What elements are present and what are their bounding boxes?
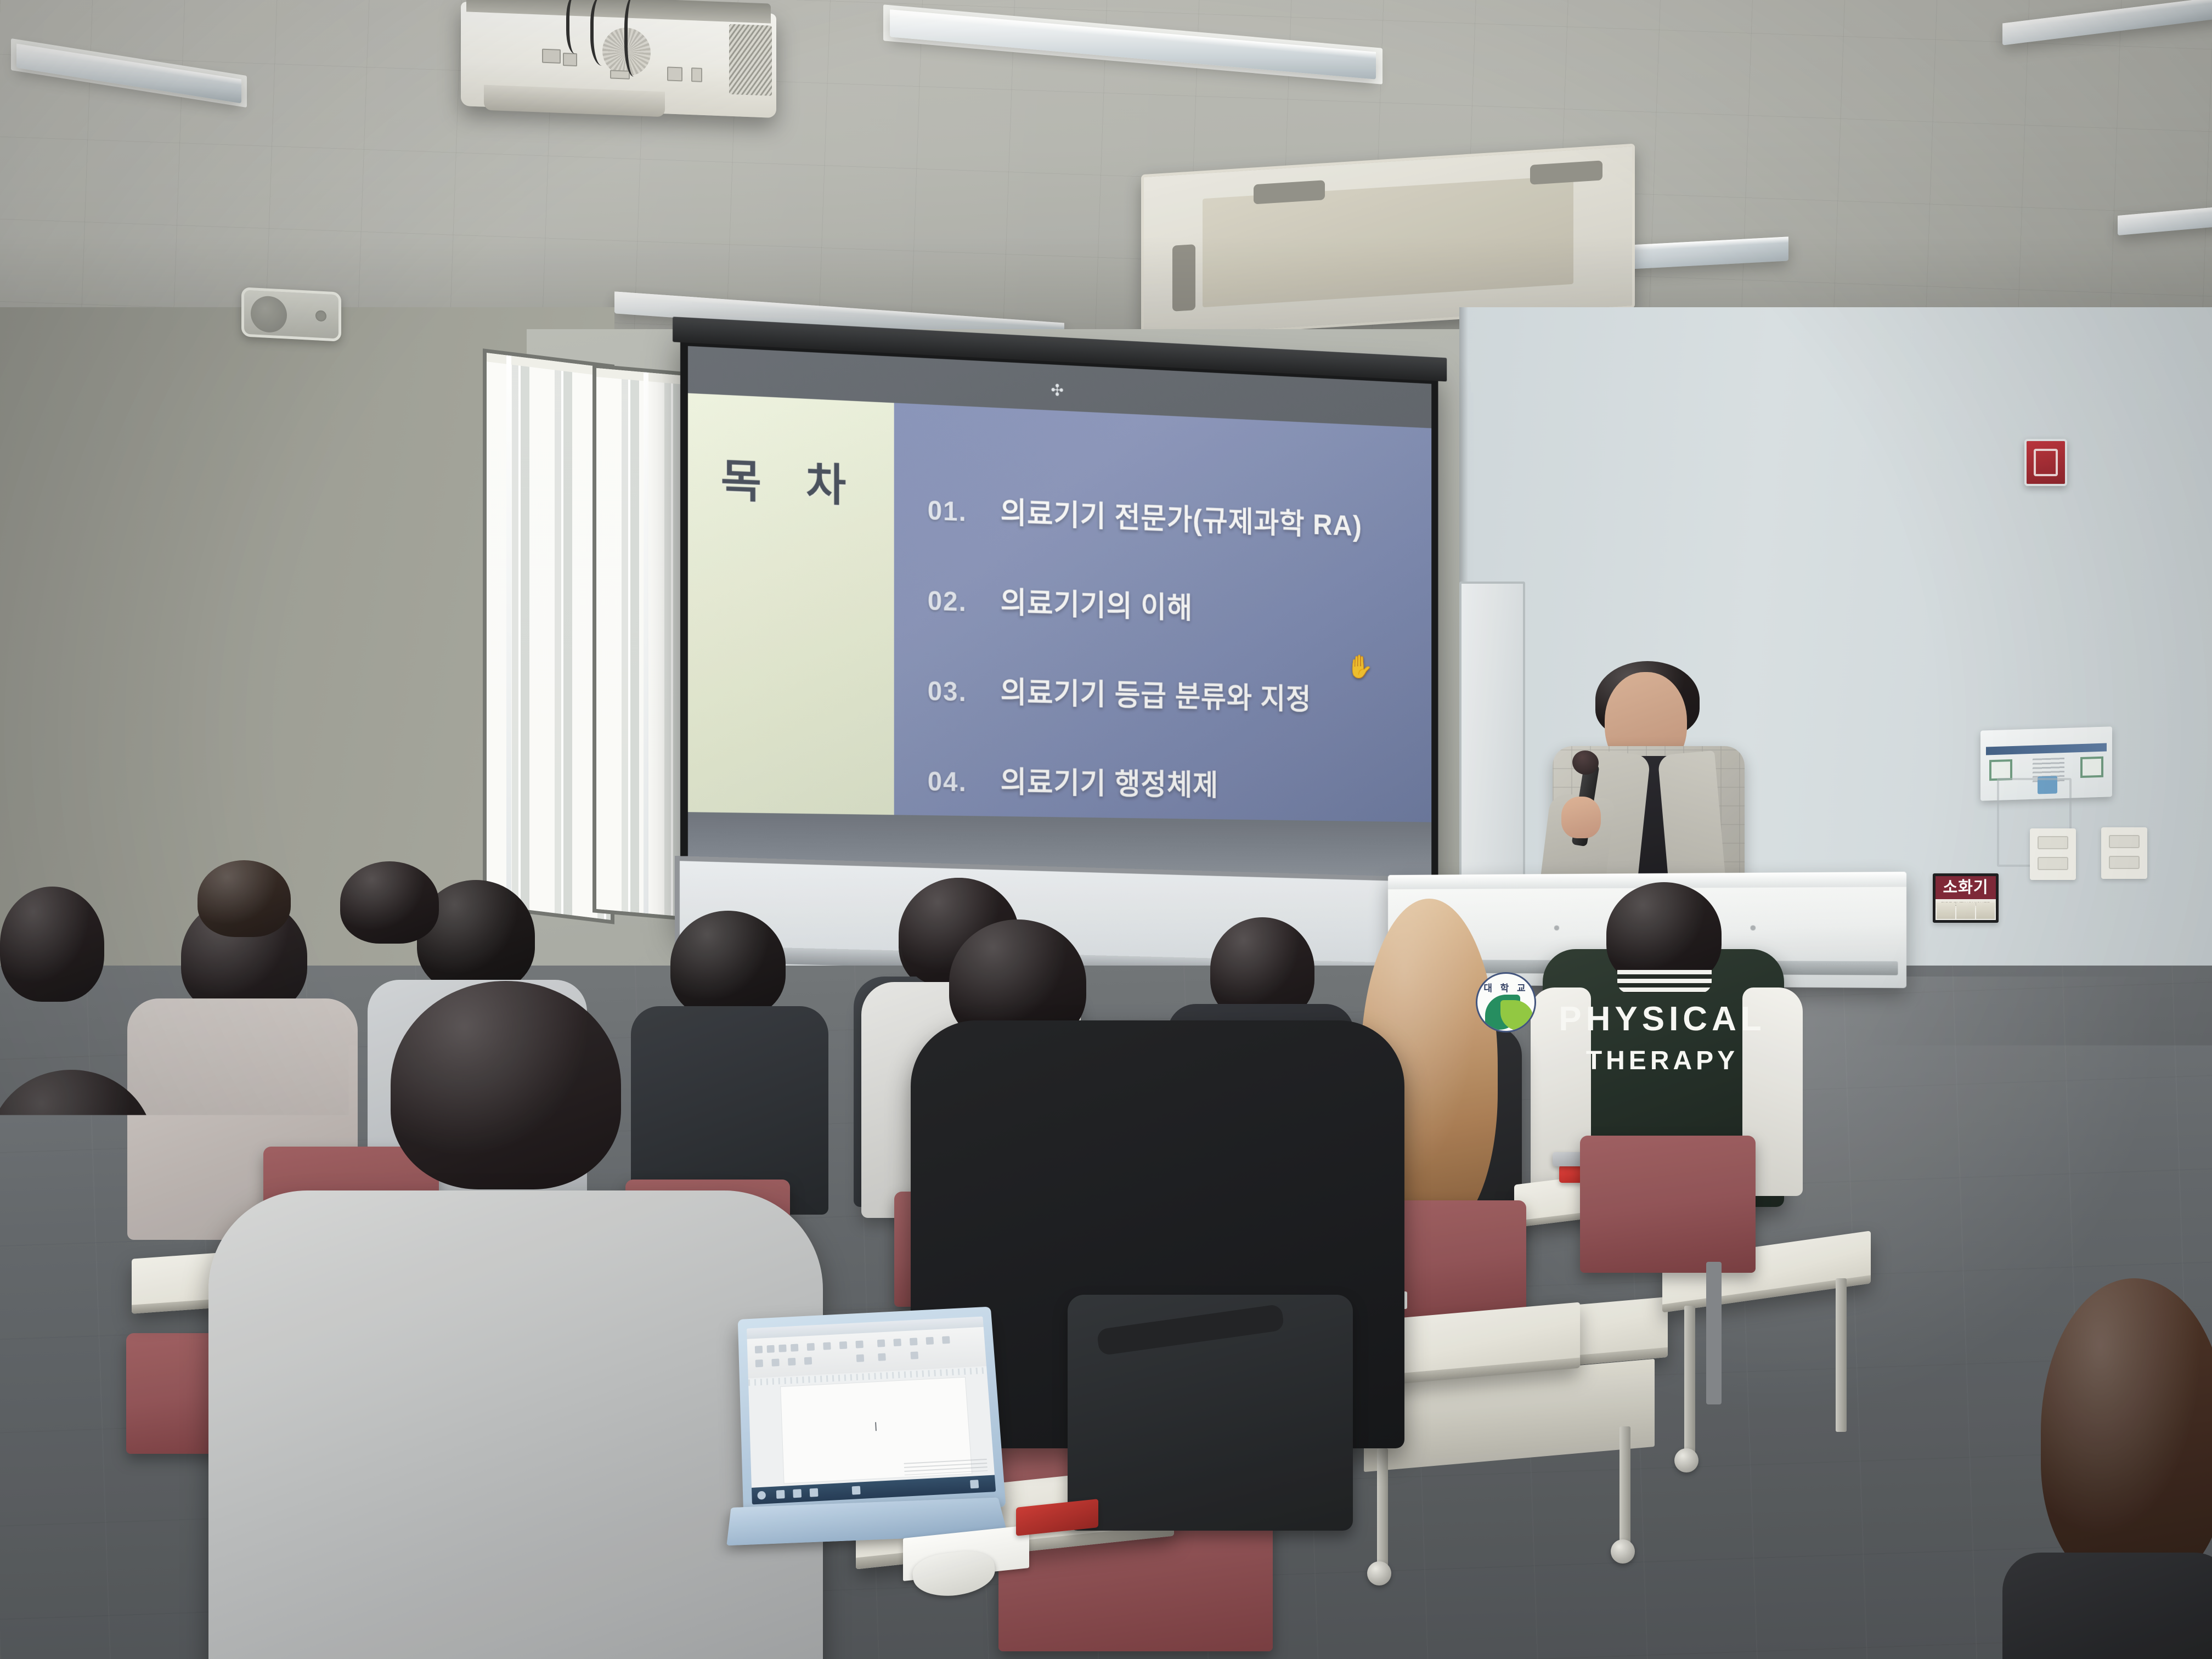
taskbar-icon-2[interactable] <box>793 1489 802 1498</box>
sign-diagram-right <box>2080 757 2103 778</box>
taskbar-icon-1[interactable] <box>776 1490 785 1499</box>
speaker-tweeter <box>315 310 326 321</box>
ribbon-icon-11[interactable] <box>910 1338 918 1345</box>
ribbon-icon-18[interactable] <box>856 1355 865 1362</box>
student-front-left-hair <box>391 981 621 1189</box>
ribbon-icon-17[interactable] <box>804 1357 812 1364</box>
projector-vga-port <box>542 49 561 64</box>
presentation-slide: 목 차 01. 의료기기 전문가(규제과학 RA) 02. 의료기기의 이해 0… <box>688 393 1431 822</box>
university-logo: 대 학 교 <box>1476 972 1536 1032</box>
laptop-screen[interactable] <box>747 1317 996 1505</box>
ribbon-icon-9[interactable] <box>877 1339 885 1347</box>
projector-usb-a-port <box>691 67 702 82</box>
light-switch-2b[interactable] <box>2109 856 2140 869</box>
toc-number-1: 01. <box>928 495 1001 529</box>
projector-hdmi-port <box>610 70 630 79</box>
desk-leg-far-right-2 <box>1836 1278 1847 1432</box>
projection-screen[interactable]: ✣ 목 차 01. 의료기기 전문가(규제과학 RA) 02. 의료기기의 이해 <box>680 329 1438 936</box>
screen-surface: ✣ 목 차 01. 의료기기 전문가(규제과학 RA) 02. 의료기기의 이해 <box>688 346 1431 822</box>
projector-usb-port <box>563 53 577 66</box>
projector-cable-3 <box>624 0 648 77</box>
ribbon-icon-5[interactable] <box>807 1343 815 1351</box>
student-backrow-6-hair <box>0 887 104 1002</box>
taskbar-tray-icon[interactable] <box>970 1480 979 1488</box>
pictogram-3 <box>1976 902 1995 919</box>
light-switch-panel-2[interactable] <box>2101 827 2147 879</box>
ribbon-icon-3[interactable] <box>778 1345 786 1352</box>
ribbon-icon-15[interactable] <box>771 1358 779 1366</box>
light-switch-1b[interactable] <box>2038 857 2068 870</box>
pictogram-1 <box>1937 902 1955 919</box>
student-left-edge-shirt <box>33 1227 176 1435</box>
desk-leg-right-2 <box>1620 1426 1630 1547</box>
toc-number-4: 04. <box>928 766 1001 798</box>
chair-right-2[interactable] <box>1580 1136 1756 1273</box>
fire-extinguisher-sign-label: 소화기 <box>1936 876 1996 899</box>
toc-text-4: 의료기기 행정체제 <box>1001 758 1219 804</box>
student-backrow-8-hair <box>340 861 439 944</box>
text-caret <box>875 1422 877 1431</box>
desk-caster-far-right-1 <box>1674 1448 1699 1472</box>
taskbar-icon-4[interactable] <box>852 1486 861 1495</box>
student-backrow-3-hair <box>670 911 786 1018</box>
taskbar-start-icon[interactable] <box>757 1491 766 1500</box>
light-switch-panel-1[interactable] <box>2030 828 2076 880</box>
ribbon-icon-8[interactable] <box>855 1340 864 1348</box>
classroom-scene: ✣ 목 차 01. 의료기기 전문가(규제과학 RA) 02. 의료기기의 이해 <box>0 0 2212 1659</box>
laptop[interactable] <box>738 1307 1006 1521</box>
ribbon-icon-4[interactable] <box>791 1344 798 1352</box>
ribbon-icon-14[interactable] <box>755 1359 763 1367</box>
toc-number-3: 03. <box>928 675 1001 708</box>
student-backrow-7-hair <box>198 860 291 937</box>
light-switch-2a[interactable] <box>2109 835 2140 848</box>
toc-item-2: 02. 의료기기의 이해 <box>928 575 1431 634</box>
ribbon-icon-2[interactable] <box>767 1345 775 1353</box>
fire-extinguisher-sign-pictograms <box>1937 902 1995 919</box>
fire-alarm-box[interactable] <box>2024 439 2067 486</box>
alarm-button[interactable] <box>2034 449 2058 476</box>
pictogram-2 <box>1956 902 1975 919</box>
ribbon-icon-19[interactable] <box>878 1353 886 1361</box>
ribbon-icon-1[interactable] <box>755 1346 763 1353</box>
slide-toc-panel: 01. 의료기기 전문가(규제과학 RA) 02. 의료기기의 이해 03. 의… <box>894 403 1431 822</box>
desk-leg-right-1 <box>1377 1448 1388 1569</box>
varsity-jacket-text-line2: THERAPY <box>1564 1046 1761 1076</box>
blind-light-gap-2 <box>644 372 648 913</box>
wall-speaker <box>241 287 341 342</box>
taskbar-icon-3[interactable] <box>810 1488 819 1497</box>
light-switch-1a[interactable] <box>2038 836 2068 849</box>
desk-leg-far-right-1 <box>1684 1306 1695 1459</box>
slide-title-panel: 목 차 <box>688 393 894 815</box>
slide-title: 목 차 <box>721 444 862 814</box>
desk-caster-right-2 <box>1611 1539 1635 1564</box>
ribbon-icon-20[interactable] <box>910 1351 918 1359</box>
podium-screw-1 <box>1554 926 1559 930</box>
hand-cursor-icon: ✋ <box>1347 653 1374 680</box>
sparkle-mark-icon: ✣ <box>1051 383 1064 398</box>
projector-cable-1 <box>566 0 588 54</box>
student-front-right-body <box>2002 1553 2212 1659</box>
sign-header-bar <box>1986 743 2107 755</box>
blazer-lapel-right <box>1657 751 1726 893</box>
ribbon-icon-12[interactable] <box>926 1337 934 1345</box>
toc-item-1: 01. 의료기기 전문가(규제과학 RA) <box>928 485 1431 546</box>
toc-text-1: 의료기기 전문가(규제과학 RA) <box>1001 488 1362 544</box>
projector-exhaust-grill <box>729 24 772 96</box>
speaker-cone <box>251 295 287 333</box>
chair-frame-right <box>1706 1262 1722 1404</box>
university-logo-text: 대 학 교 <box>1477 980 1534 994</box>
varsity-collar-stripes <box>1617 970 1712 993</box>
presenter-hand <box>1561 797 1601 838</box>
varsity-jacket-text-line1: PHYSICAL <box>1558 1000 1767 1039</box>
toc-item-4: 04. 의료기기 행정체제 <box>928 756 1431 806</box>
projector-cable-2 <box>590 0 620 66</box>
podium-screw-2 <box>1751 926 1756 930</box>
toc-text-3: 의료기기 등급 분류와 지정 <box>1001 668 1312 718</box>
ribbon-icon-6[interactable] <box>823 1342 831 1350</box>
ribbon-icon-7[interactable] <box>839 1341 847 1349</box>
student-front-left-body <box>208 1190 823 1659</box>
desk-caster-right-1 <box>1367 1561 1391 1585</box>
toc-text-2: 의료기기의 이해 <box>1001 578 1193 626</box>
blind-light-gap-1 <box>506 356 511 908</box>
toc-number-2: 02. <box>928 585 1001 619</box>
ribbon-icon-10[interactable] <box>893 1339 901 1346</box>
ribbon-icon-13[interactable] <box>942 1336 950 1344</box>
projector-lan-port <box>667 66 682 81</box>
ac-vent-right <box>1530 160 1602 184</box>
fire-extinguisher-sign: 소화기 FIRE EXTINGUISHER <box>1933 873 1999 923</box>
ribbon-icon-16[interactable] <box>788 1358 795 1365</box>
